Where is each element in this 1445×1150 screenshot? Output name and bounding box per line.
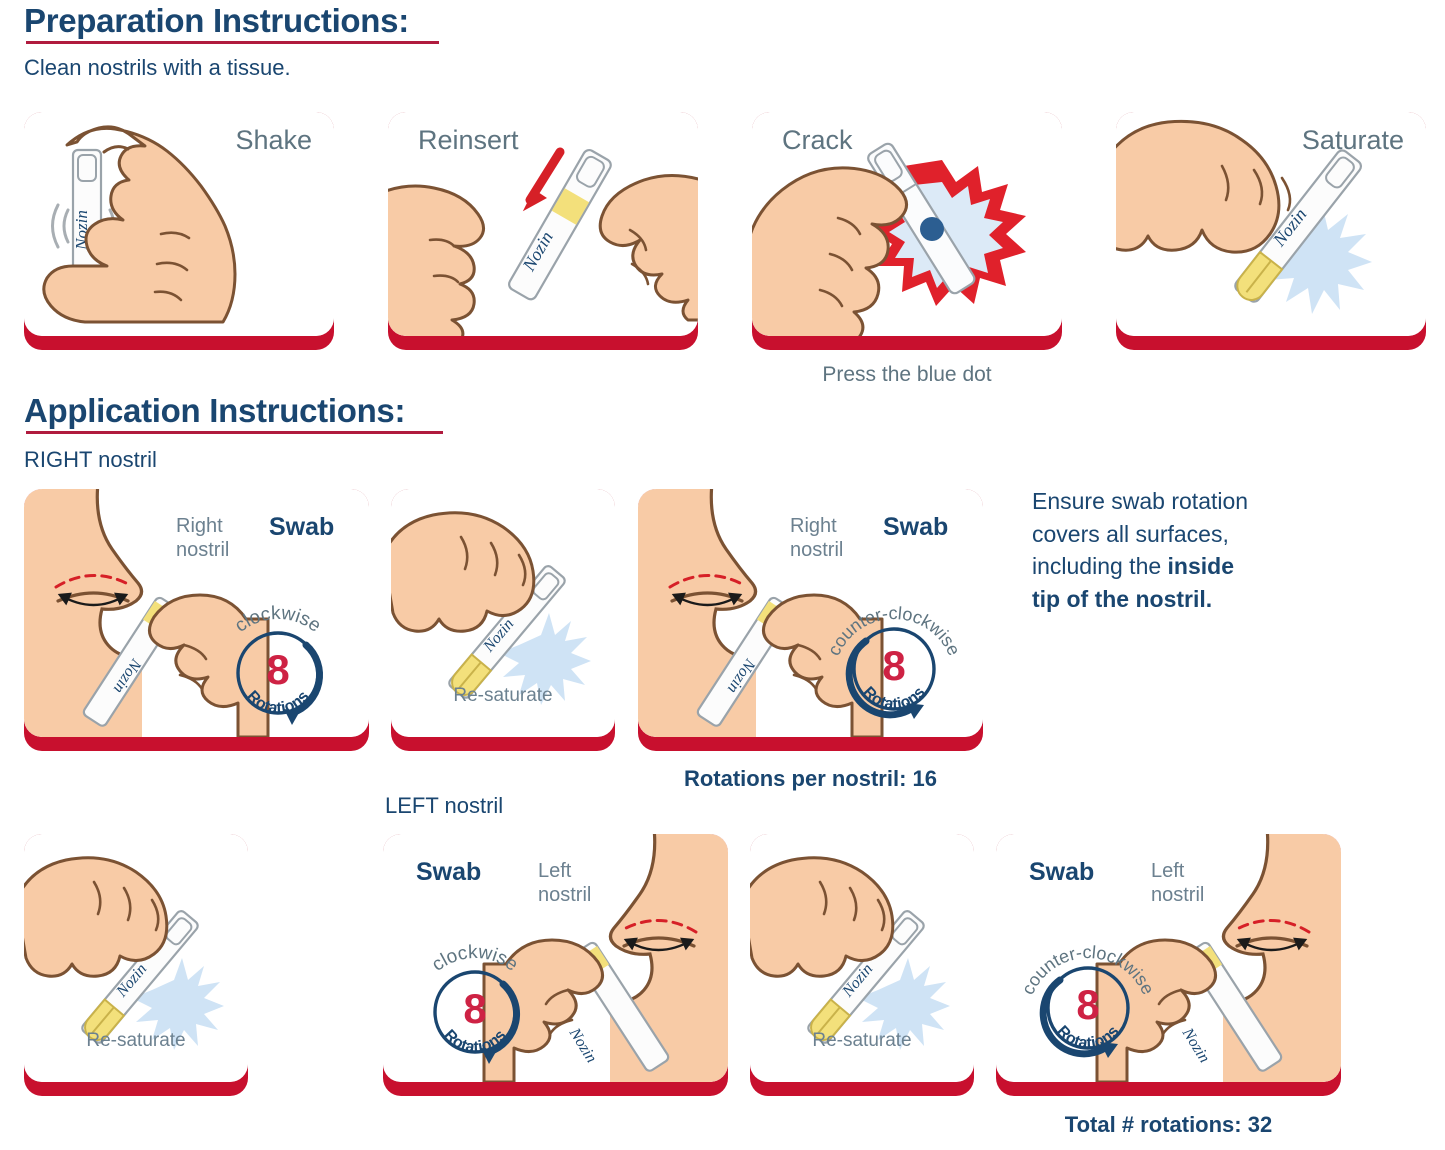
rotations-per-nostril-label: Rotations per nostril: 16 — [638, 766, 983, 792]
app-card-left-resaturate-2[interactable]: Nozin Re-saturate — [750, 834, 974, 1082]
badge-count-label: 8 — [463, 985, 486, 1032]
app-action-label: Swab — [269, 513, 334, 542]
app-card-right-swab-ccw[interactable]: Nozin counter-clockwise — [638, 489, 983, 737]
app-caption-resaturate: Re-saturate — [391, 685, 615, 707]
app-nostril-label: Rightnostril — [176, 515, 248, 562]
prep-label-reinsert: Reinsert — [388, 125, 698, 156]
app-nostril-label: Rightnostril — [790, 515, 862, 562]
swab-rotation-note: Ensure swab rotation covers all surfaces… — [1032, 485, 1332, 616]
app-nostril-label: Leftnostril — [1151, 860, 1223, 907]
app-action-label: Swab — [883, 513, 948, 542]
prep-label-saturate: Saturate — [1116, 125, 1426, 156]
total-rotations-label: Total # rotations: 32 — [996, 1112, 1341, 1138]
badge-count-label: 8 — [1076, 981, 1099, 1028]
hand-icon — [752, 168, 907, 336]
application-heading: Application Instructions: — [24, 392, 405, 430]
note-line-1: Ensure swab rotation — [1032, 488, 1248, 514]
face-profile-icon — [610, 834, 728, 1082]
prep-label-shake: Shake — [24, 125, 334, 156]
nozin-swab-icon: Nozin — [506, 147, 613, 301]
application-right-nostril-label: RIGHT nostril — [24, 447, 157, 473]
prep-label-crack: Crack — [752, 125, 1062, 156]
brand-wordmark: Nozin — [1178, 1024, 1213, 1066]
app-card-right-resaturate[interactable]: Nozin Re-saturate — [391, 489, 615, 737]
hand-icon — [750, 858, 893, 977]
note-bold-tip: tip of the nostril. — [1032, 586, 1212, 612]
note-bold-inside: inside — [1168, 553, 1234, 579]
application-left-nostril-label: LEFT nostril — [385, 793, 503, 819]
face-profile-icon — [1223, 834, 1341, 1082]
app-card-left-swab-ccw[interactable]: Nozin counter-clockwise — [996, 834, 1341, 1082]
preparation-subtitle: Clean nostrils with a tissue. — [24, 55, 291, 81]
face-profile-icon — [24, 489, 142, 737]
badge-count-label: 8 — [266, 646, 289, 693]
app-caption-resaturate: Re-saturate — [750, 1030, 974, 1052]
badge-count-label: 8 — [882, 642, 905, 689]
brand-wordmark: Nozin — [565, 1024, 600, 1066]
app-card-right-swab-cw[interactable]: Nozin clockwise — [24, 489, 369, 737]
app-card-left-swab-cw[interactable]: Nozin clockwise R — [383, 834, 728, 1082]
app-action-label: Swab — [416, 858, 481, 887]
hand-icon — [24, 858, 167, 977]
preparation-heading-rule — [26, 41, 439, 44]
app-nostril-label: Leftnostril — [538, 860, 610, 907]
right-hand-icon — [600, 175, 698, 320]
note-line-2: covers all surfaces, — [1032, 521, 1229, 547]
hand-icon — [391, 513, 534, 632]
app-card-left-resaturate-1[interactable]: Nozin Re-saturate — [24, 834, 248, 1082]
prep-caption-crack: Press the blue dot — [752, 363, 1062, 387]
application-heading-rule — [26, 431, 443, 434]
blue-dot-icon — [920, 217, 944, 241]
preparation-heading: Preparation Instructions: — [24, 2, 409, 40]
red-down-arrow-icon — [524, 152, 560, 210]
left-hand-icon — [388, 186, 484, 336]
note-line-3: including the — [1032, 553, 1168, 579]
face-profile-icon — [638, 489, 756, 737]
app-caption-resaturate: Re-saturate — [24, 1030, 248, 1052]
app-action-label: Swab — [1029, 858, 1094, 887]
